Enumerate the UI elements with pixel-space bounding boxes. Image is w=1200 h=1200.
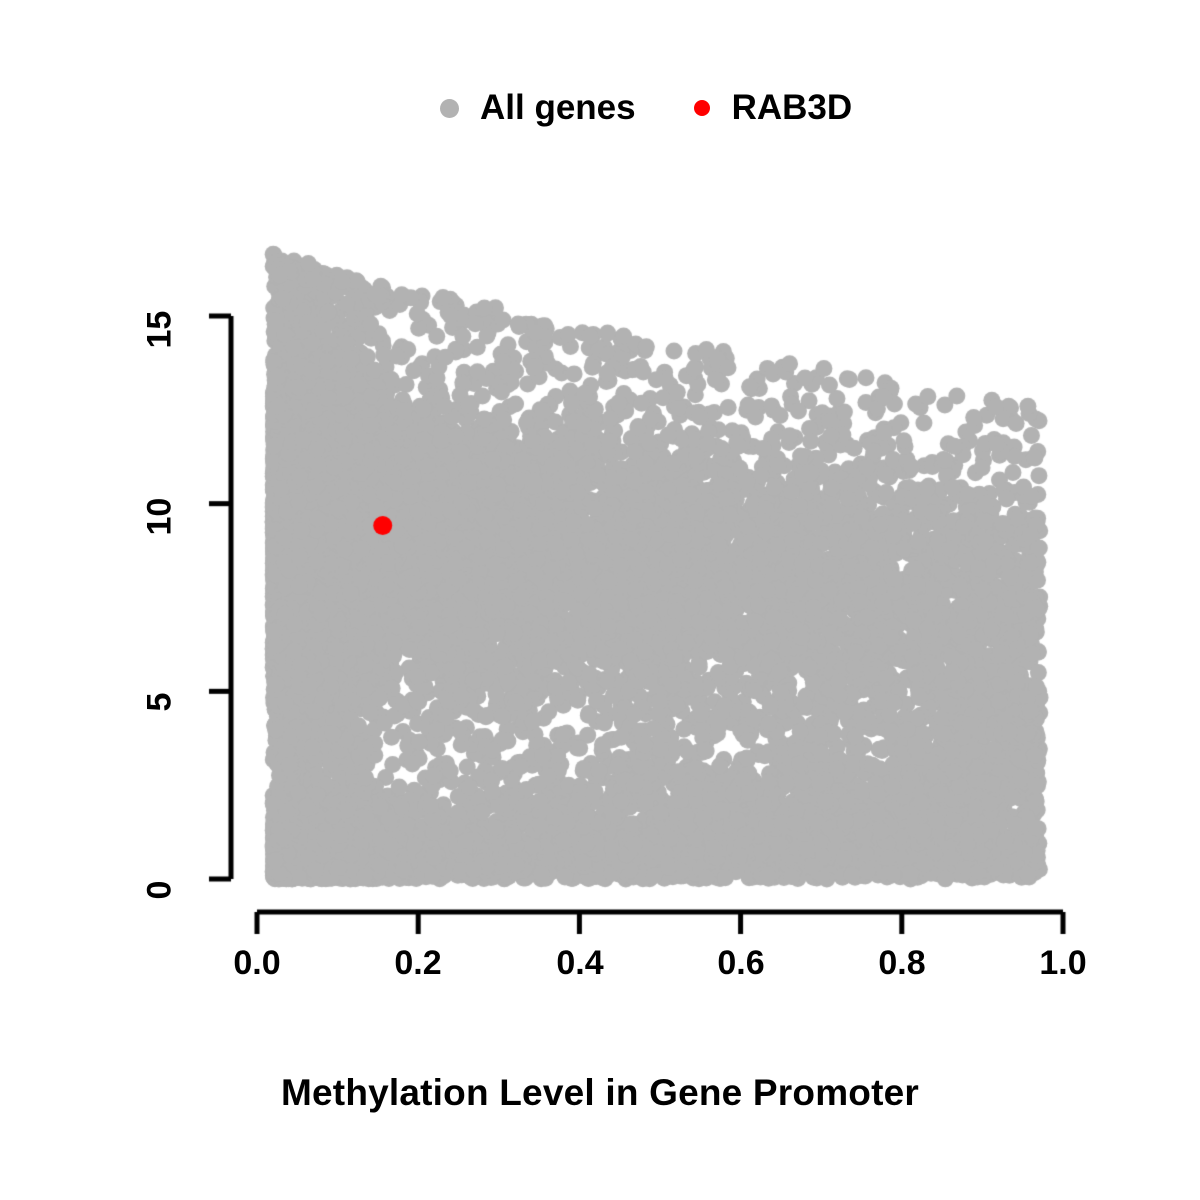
x-tick-label-2: 0.4 bbox=[556, 944, 603, 983]
chart-legend: All genes RAB3D bbox=[440, 78, 960, 136]
y-tick-label-2: 10 bbox=[128, 484, 192, 524]
x-tick-label-5: 1.0 bbox=[1039, 944, 1086, 983]
y-tick-label-3: 15 bbox=[128, 297, 192, 337]
legend-item-rab3d: RAB3D bbox=[694, 90, 853, 125]
legend-item-all-genes: All genes bbox=[440, 90, 636, 125]
legend-label-rab3d: RAB3D bbox=[732, 90, 853, 125]
y-tick-label-1: 5 bbox=[140, 672, 180, 712]
legend-marker-all-genes-icon bbox=[440, 99, 459, 118]
x-tick-label-1: 0.2 bbox=[394, 944, 441, 983]
scatter-plot-canvas bbox=[0, 0, 1200, 1200]
x-tick-label-3: 0.6 bbox=[717, 944, 764, 983]
scatter-plot-figure: All genes RAB3D Gene Expression Level (l… bbox=[0, 0, 1200, 1200]
legend-label-all-genes: All genes bbox=[480, 90, 636, 125]
y-tick-label-0: 0 bbox=[140, 860, 180, 900]
legend-marker-rab3d-icon bbox=[694, 100, 710, 116]
x-tick-label-0: 0.0 bbox=[233, 944, 280, 983]
x-tick-label-4: 0.8 bbox=[878, 944, 925, 983]
x-axis-title: Methylation Level in Gene Promoter bbox=[0, 1072, 1200, 1114]
